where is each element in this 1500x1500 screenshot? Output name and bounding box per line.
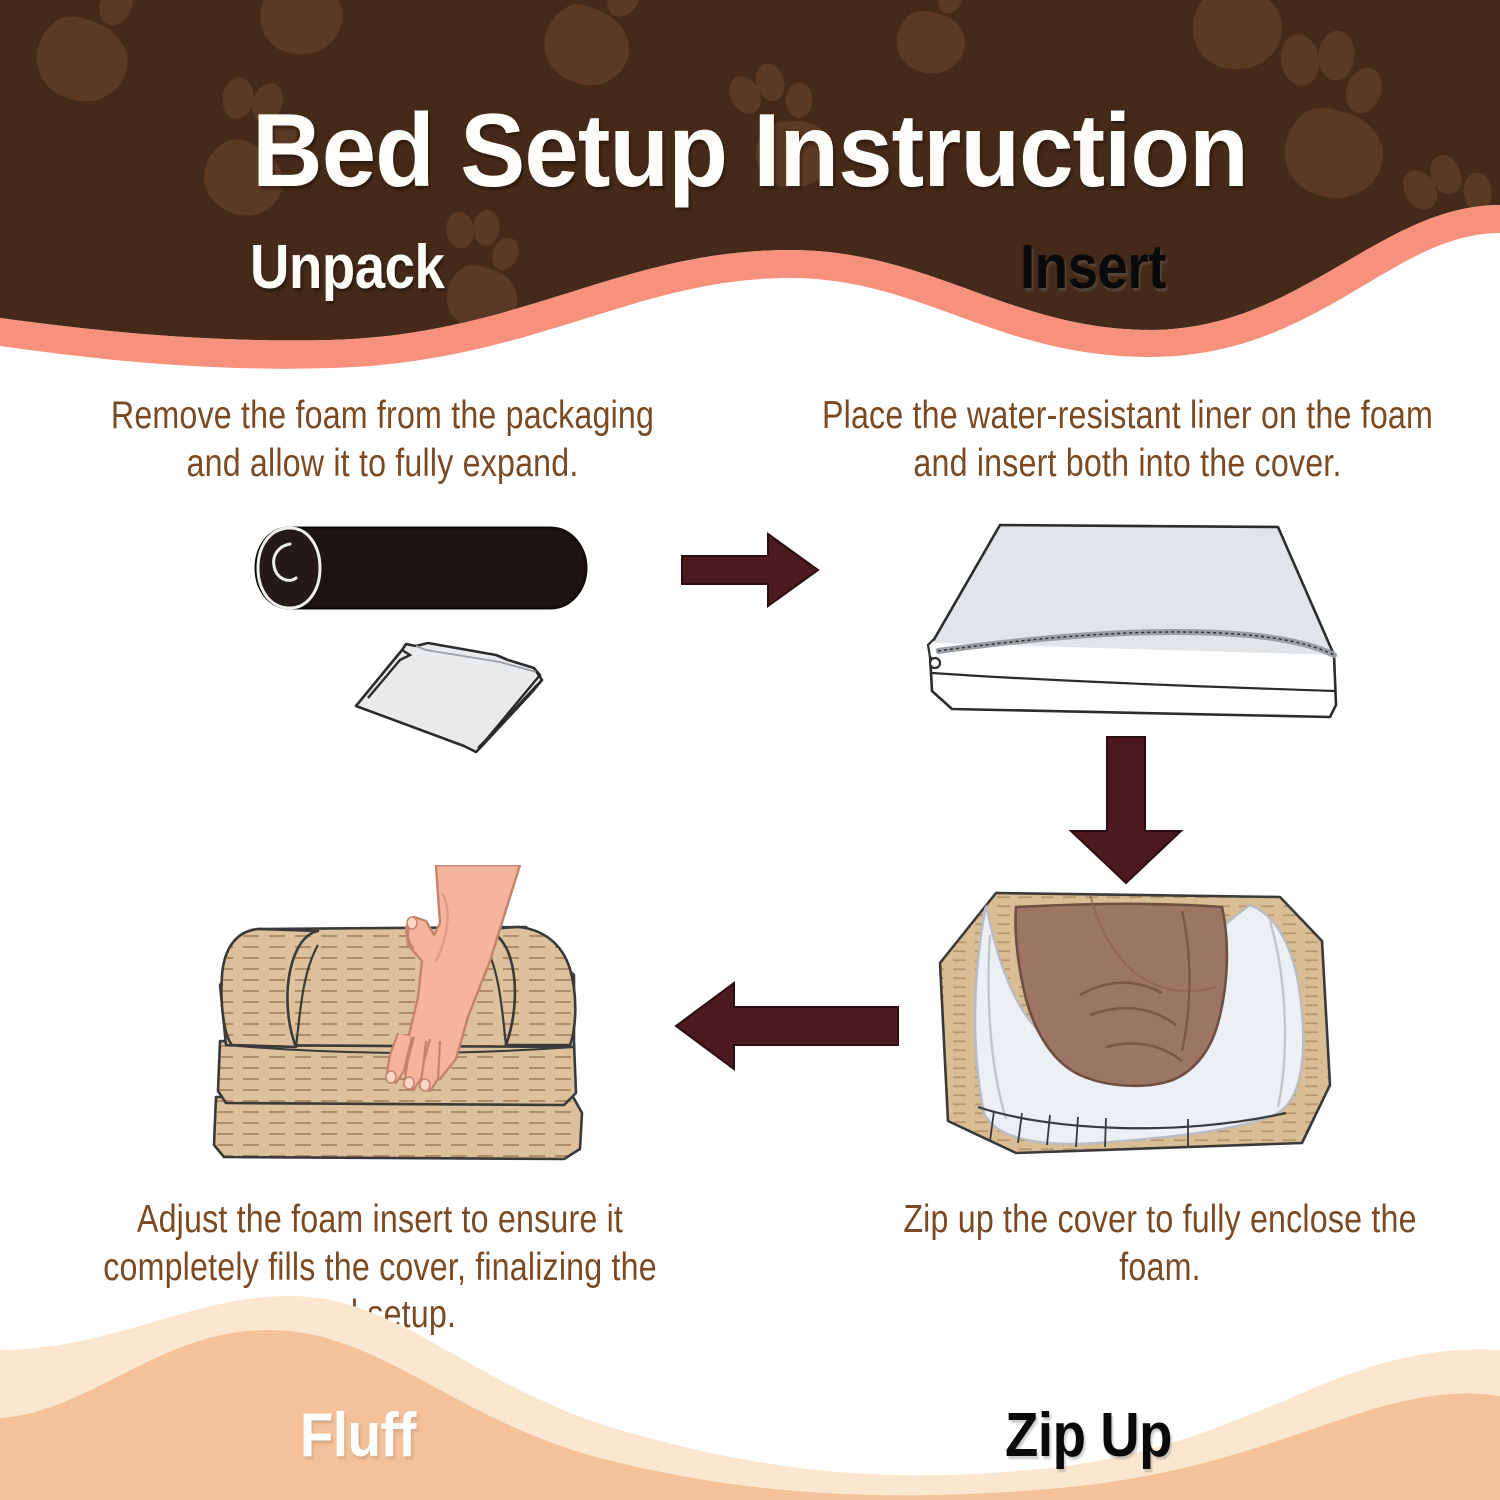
arrow-zipup-to-fluff-icon [670,965,900,1085]
folded-liner-icon [356,643,542,752]
illustration-open-cover-with-foam [930,875,1350,1175]
caption-unpack: Remove the foam from the packaging and a… [81,392,684,488]
step-label-insert: Insert [1020,232,1166,303]
caption-zipup: Zip up the cover to fully enclose the fo… [866,1196,1455,1292]
step-label-zipup: Zip Up [1005,1400,1172,1471]
rolled-foam-icon [256,528,586,608]
arrow-insert-to-zipup-icon [1055,735,1195,885]
step-label-unpack: Unpack [250,232,444,303]
caption-insert: Place the water-resistant liner on the f… [822,392,1434,488]
illustration-zippered-foam-mattress [890,505,1340,725]
illustration-hand-pressing-bed [190,865,640,1185]
footer-banner [0,1290,1500,1500]
infographic-canvas: Bed Setup Instruction Unpack Insert Remo… [0,0,1500,1500]
step-label-fluff: Fluff [300,1400,416,1471]
page-title: Bed Setup Instruction [45,92,1455,211]
arrow-unpack-to-insert-icon [680,530,820,610]
